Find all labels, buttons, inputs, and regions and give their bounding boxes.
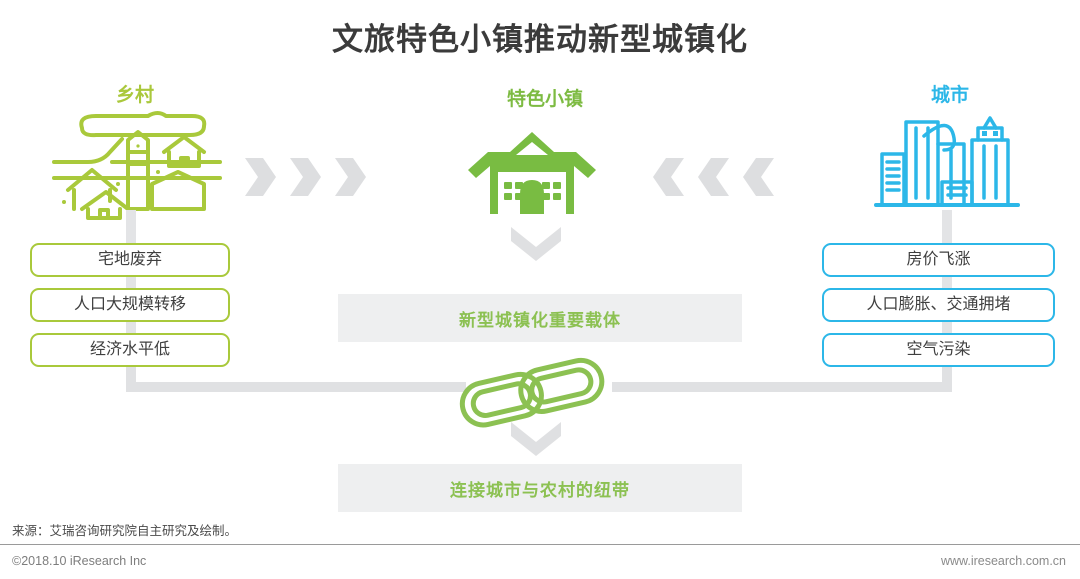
banner-bond: 连接城市与农村的纽带 xyxy=(338,464,742,512)
page-title: 文旅特色小镇推动新型城镇化 xyxy=(0,14,1080,59)
connector-right-elbow-horizontal xyxy=(612,382,952,392)
column-heading-village: 乡村 xyxy=(40,80,230,107)
infographic-canvas: 文旅特色小镇推动新型城镇化 乡村 xyxy=(0,0,1080,579)
fact-box-village-0[interactable]: 宅地废弃 xyxy=(30,243,230,277)
chevron-left-icon xyxy=(697,156,731,198)
fact-box-city-2[interactable]: 空气污染 xyxy=(822,333,1055,367)
copyright-text: ©2018.10 iResearch Inc xyxy=(12,554,146,568)
connector-village-vertical xyxy=(126,210,136,350)
arrow-group-city-to-town xyxy=(652,156,776,198)
down-chevron-icon xyxy=(509,225,563,263)
connector-left-elbow-horizontal xyxy=(126,382,466,392)
chevron-left-icon xyxy=(652,156,686,198)
banner-carrier: 新型城镇化重要载体 xyxy=(338,294,742,342)
column-heading-city: 城市 xyxy=(855,80,1045,107)
fact-box-village-1[interactable]: 人口大规模转移 xyxy=(30,288,230,322)
fact-box-city-0[interactable]: 房价飞涨 xyxy=(822,243,1055,277)
village-scene-icon xyxy=(52,106,222,221)
chevron-right-icon xyxy=(243,156,277,198)
chevron-right-icon xyxy=(333,156,367,198)
connector-city-vertical xyxy=(942,210,952,350)
chevron-left-icon xyxy=(742,156,776,198)
city-skyline-icon xyxy=(872,106,1022,221)
column-heading-town: 特色小镇 xyxy=(450,84,640,111)
fact-box-village-2[interactable]: 经济水平低 xyxy=(30,333,230,367)
website-url: www.iresearch.com.cn xyxy=(941,554,1066,568)
fact-box-city-1[interactable]: 人口膨胀、交通拥堵 xyxy=(822,288,1055,322)
town-house-icon xyxy=(466,126,598,218)
down-chevron-icon xyxy=(509,420,563,458)
arrow-group-village-to-town xyxy=(243,156,367,198)
chevron-right-icon xyxy=(288,156,322,198)
source-note: 来源：艾瑞咨询研究院自主研究及绘制。 xyxy=(12,520,237,539)
footer-divider xyxy=(0,544,1080,545)
